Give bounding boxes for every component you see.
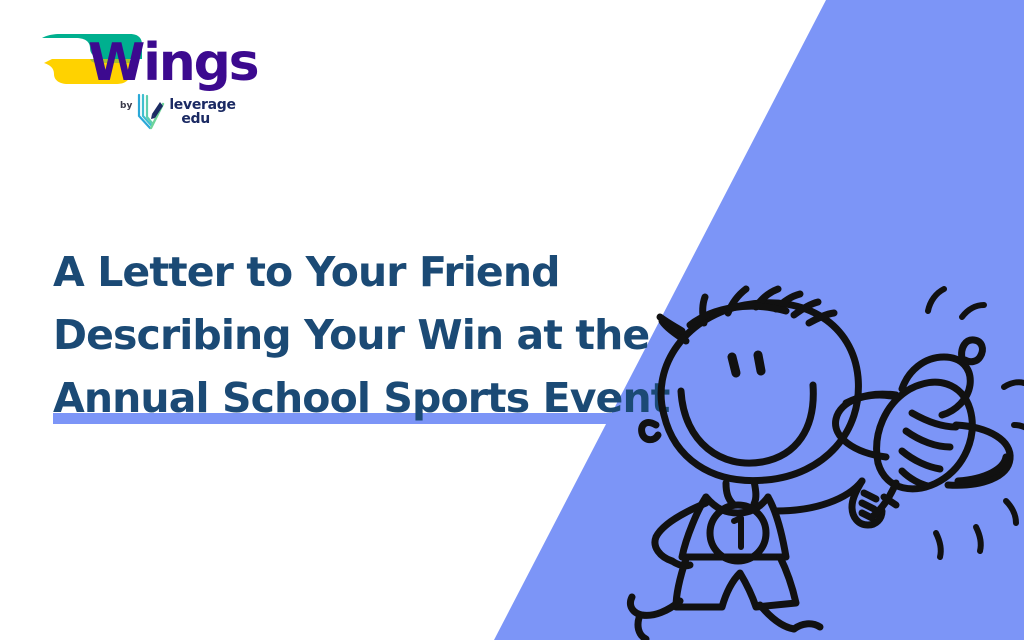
medal-circle [710,505,766,561]
hand-grip [852,481,882,525]
trophy-lid [902,357,970,415]
leverage-edu-sublogo: by leverage edu [120,92,236,132]
smile [681,385,813,463]
finger-3 [862,513,872,518]
trophy-ridge-1 [912,413,956,427]
trophy-stem [872,483,896,517]
hand-on-hip [672,561,690,566]
trophy-knob [962,340,983,362]
trophy-ridge-3 [902,451,940,469]
page-title-line-3: Annual School Sports Event [53,367,653,430]
hair-spike-5 [756,289,778,307]
sparkle-top-2 [962,305,984,317]
wings-logo[interactable]: Wings by leverage edu [30,26,260,144]
hair-spike-8 [809,313,834,323]
raised-arm [776,481,862,511]
shirt-outline [682,497,786,557]
eye-left [732,357,736,373]
shirt-neckline [706,497,768,513]
page-title-line-1: A Letter to Your Friend [53,241,653,304]
hair-spike-4 [728,289,746,313]
sparkle-top-1 [928,289,944,311]
foot-right [794,624,820,629]
trophy-handle-left [836,394,896,457]
winner-doodle-illustration [610,285,1024,640]
trophy-ridge-2 [906,431,950,447]
arm-on-hip [655,503,706,561]
trophy-handle-right-inner [958,457,1006,481]
hair-spike-1 [662,321,686,341]
trophy-cup [877,382,973,489]
hair-spike-6 [776,294,800,309]
wings-wordmark: Wings [88,37,257,89]
trophy-handle-right [948,425,1010,485]
neck-left [726,483,733,504]
medal-number-one [734,518,741,547]
trophy-ridge-4 [902,471,928,486]
sparkle-right-3 [1006,501,1016,523]
leverage-edu-book-icon [136,92,166,132]
page-title-line-2: Describing Your Win at the [53,304,653,367]
blog-banner: Wings by leverage edu A Letter to Your F… [0,0,1024,640]
leverage-edu-line2: edu [181,112,235,126]
leg-right [760,605,794,629]
sparkle-right-2 [1014,425,1024,431]
hair-spike-3 [703,297,705,323]
page-title: A Letter to Your Friend Describing Your … [53,241,653,430]
leverage-edu-line1: leverage [169,98,235,112]
hair-spike-7 [794,302,818,315]
hair-spike-2 [660,317,682,331]
hair-fringe [690,306,786,325]
eye-right [758,355,761,371]
foot-left [638,615,646,639]
by-label: by [120,101,132,111]
sparkle-right-1 [1004,382,1024,387]
doodle-strokes [630,289,1024,639]
head-outline [661,303,858,481]
finger-2 [862,503,874,509]
trophy-base-line [884,497,896,505]
neck-right [754,481,756,504]
finger-1 [864,493,876,499]
trophy-handle-left-inner [846,395,896,403]
sparkle-bottom-2 [936,533,941,557]
shorts [676,557,796,607]
sparkle-bottom-1 [976,527,981,551]
leg-left [630,597,680,615]
